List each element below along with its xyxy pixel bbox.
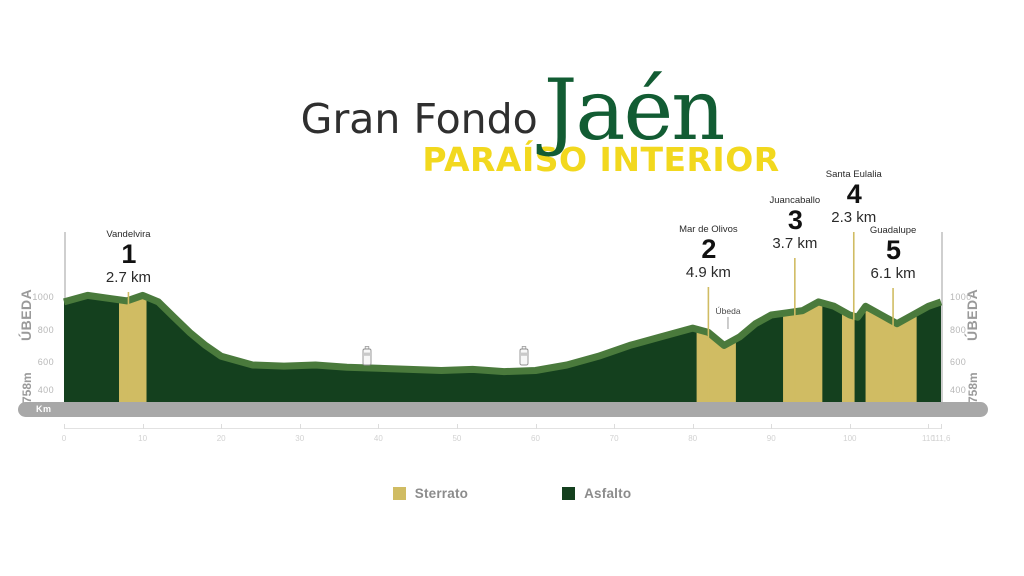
x-tick-label: 0 — [62, 434, 66, 443]
sterrato-segment — [119, 170, 147, 402]
x-tick — [300, 424, 301, 429]
x-tick-label: 70 — [610, 434, 619, 443]
title-main: Jaén — [544, 68, 724, 152]
sterrato-segment — [842, 170, 854, 402]
title-block: Gran Fondo Jaén PARAÍSO INTERIOR — [0, 62, 1024, 179]
x-tick — [941, 424, 942, 429]
x-tick — [614, 424, 615, 429]
x-tick — [64, 424, 65, 429]
x-tick-label: 90 — [767, 434, 776, 443]
x-tick-label: 60 — [531, 434, 540, 443]
legend-item: Asfalto — [562, 486, 631, 501]
x-tick — [536, 424, 537, 429]
x-axis: 0102030405060708090100110111,6 — [0, 428, 1024, 458]
x-tick — [850, 424, 851, 429]
x-tick-label: 100 — [843, 434, 856, 443]
x-tick-label: 50 — [452, 434, 461, 443]
x-tick — [928, 424, 929, 429]
x-tick — [378, 424, 379, 429]
x-tick — [457, 424, 458, 429]
x-tick-label: 30 — [295, 434, 304, 443]
x-tick — [693, 424, 694, 429]
legend-label: Sterrato — [415, 486, 468, 501]
elevation-profile-chart: ÚBEDA 758m ÚBEDA 758m 1000800600400 1000… — [0, 170, 1024, 460]
sterrato-segment — [697, 170, 736, 402]
legend: SterratoAsfalto — [0, 486, 1024, 501]
x-tick — [143, 424, 144, 429]
sterrato-segment — [866, 170, 917, 402]
x-tick-label: 10 — [138, 434, 147, 443]
x-tick-label: 80 — [688, 434, 697, 443]
legend-item: Sterrato — [393, 486, 468, 501]
legend-swatch-icon — [393, 487, 406, 500]
title-line-primary: Gran Fondo Jaén — [0, 62, 1024, 146]
km-bar-label: Km — [36, 404, 52, 414]
x-tick — [221, 424, 222, 429]
sterrato-segment — [783, 170, 822, 402]
x-axis-line — [64, 428, 942, 429]
legend-swatch-icon — [562, 487, 575, 500]
x-tick-label: 111,6 — [932, 434, 951, 443]
title-prefix: Gran Fondo — [301, 99, 538, 140]
x-tick — [771, 424, 772, 429]
legend-label: Asfalto — [584, 486, 631, 501]
x-tick-label: 40 — [374, 434, 383, 443]
km-bar: Km — [18, 402, 988, 417]
x-tick-label: 20 — [217, 434, 226, 443]
